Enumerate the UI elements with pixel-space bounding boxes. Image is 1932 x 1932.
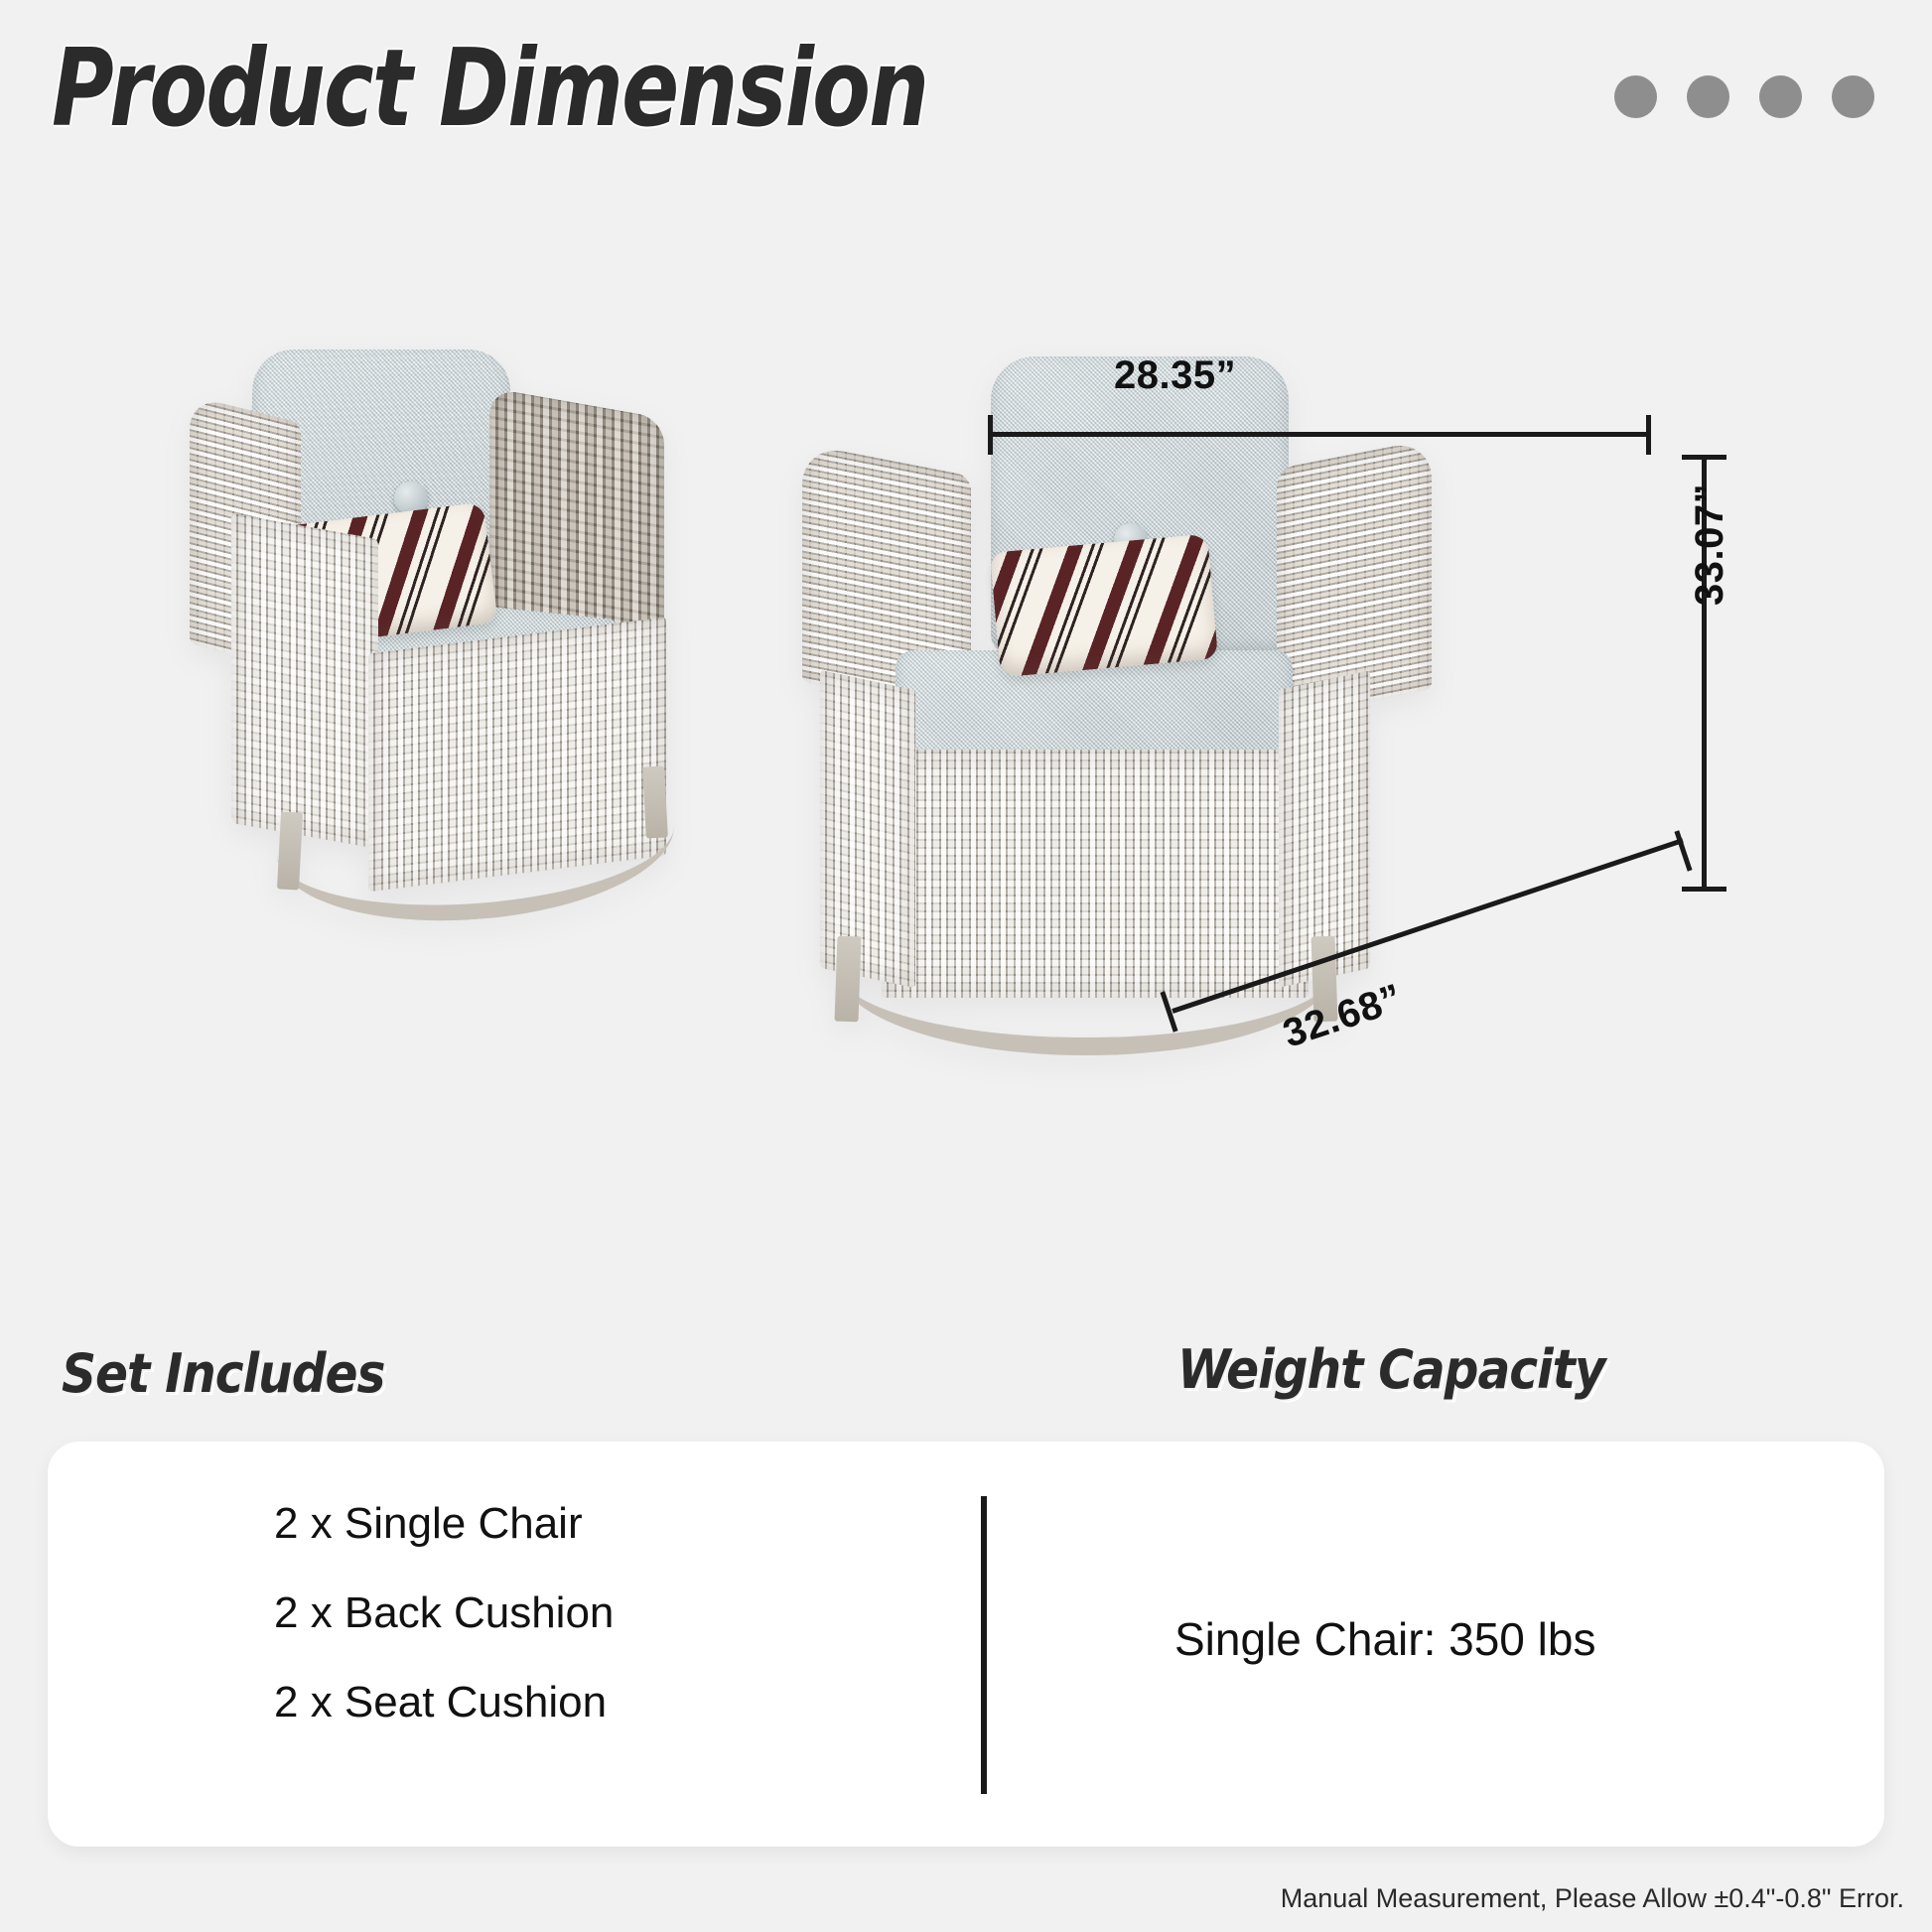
set-includes-heading: Set Includes bbox=[62, 1342, 384, 1405]
right-chair-accent-pillow bbox=[990, 534, 1218, 678]
list-item: 2 x Single Chair bbox=[274, 1499, 614, 1549]
page-title: Product Dimension bbox=[52, 36, 927, 143]
width-dimension-label: 28.35” bbox=[1114, 353, 1236, 398]
width-dimension-cap-right bbox=[1646, 415, 1651, 455]
infographic-root: Product Dimension bbox=[0, 0, 1932, 1932]
depth-dimension-group: 32.68” bbox=[1167, 913, 1723, 1033]
width-dimension-line bbox=[988, 432, 1651, 437]
list-item: 2 x Back Cushion bbox=[274, 1588, 614, 1638]
depth-dimension-cap-right bbox=[1674, 830, 1692, 871]
pagination-dots bbox=[1614, 75, 1874, 118]
height-dimension-cap-top bbox=[1682, 455, 1726, 460]
height-dimension-cap-bottom bbox=[1682, 887, 1726, 892]
dot-indicator-1 bbox=[1614, 75, 1657, 118]
dot-indicator-2 bbox=[1687, 75, 1729, 118]
measurement-disclaimer: Manual Measurement, Please Allow ±0.4"-0… bbox=[1281, 1883, 1904, 1914]
card-vertical-divider bbox=[981, 1496, 987, 1794]
right-chair-leg-front-left bbox=[835, 936, 862, 1023]
list-item: 2 x Seat Cushion bbox=[274, 1678, 614, 1727]
weight-capacity-heading: Weight Capacity bbox=[1177, 1338, 1605, 1401]
height-dimension-label: 33.07” bbox=[1688, 483, 1732, 606]
left-chair-leg-front-left bbox=[277, 811, 303, 890]
dot-indicator-3 bbox=[1759, 75, 1802, 118]
set-includes-list: 2 x Single Chair 2 x Back Cushion 2 x Se… bbox=[274, 1499, 614, 1727]
weight-capacity-value: Single Chair: 350 lbs bbox=[1174, 1612, 1595, 1666]
dot-indicator-4 bbox=[1832, 75, 1874, 118]
info-card: 2 x Single Chair 2 x Back Cushion 2 x Se… bbox=[48, 1442, 1884, 1847]
width-dimension-cap-left bbox=[988, 415, 993, 455]
left-chair-leg-front-right bbox=[642, 765, 668, 838]
product-illustration-area: 28.35” 33.07” 32.68” bbox=[0, 258, 1932, 1281]
left-chair-image bbox=[174, 338, 730, 973]
left-chair-side-panel bbox=[231, 513, 378, 849]
